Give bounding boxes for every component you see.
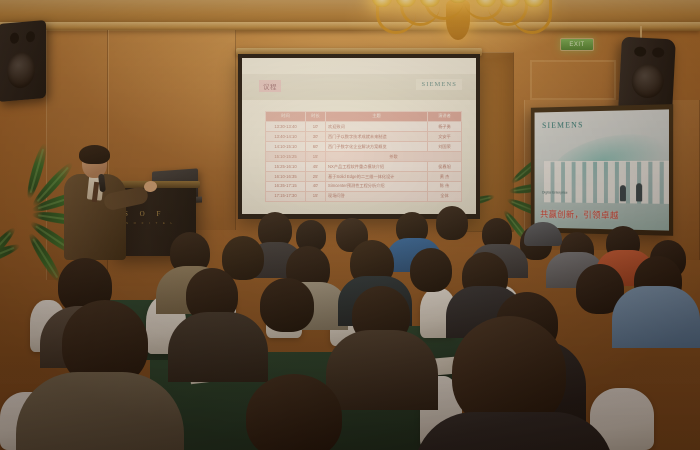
- agenda-cell-topic: 西门子数字化企业解决方案概览: [326, 142, 428, 152]
- speaker-cone: [631, 63, 665, 99]
- banner-figure: [620, 185, 626, 201]
- agenda-body: 13:30-13:40 10' 欢迎致词 杨子勇 13:40-14:10 30'…: [266, 122, 462, 202]
- audience-shoulders: [612, 286, 700, 348]
- siemens-logo-banner: SIEMENS: [542, 120, 584, 130]
- agenda-header-topic: 主题: [326, 112, 428, 122]
- agenda-row: 13:40-14:10 30' 西门子以数字技术成就未来制造 文安平: [266, 132, 462, 142]
- agenda-cell-duration: 45': [306, 162, 326, 172]
- agenda-row: 14:10-15:10 60' 西门子数字化企业解决方案概览 刘国荣: [266, 142, 462, 152]
- agenda-cell-topic: 现场问答: [326, 192, 428, 202]
- speaker-cone: [7, 51, 35, 89]
- audience-member: [260, 278, 314, 332]
- banner-subtext: Digital Enterprise: [542, 191, 567, 195]
- wall-speaker-right: [618, 37, 676, 114]
- banner-building-graphic: [544, 161, 669, 204]
- agenda-header-speaker: 演讲者: [428, 112, 462, 122]
- agenda-cell-time: 17:15-17:30: [266, 192, 306, 202]
- agenda-cell-duration: 25': [306, 172, 326, 182]
- presenter: [62, 148, 136, 260]
- agenda-row: 16:10-16:35 25' 基于Solid Edge的二三维一体化设计 黄 …: [266, 172, 462, 182]
- slide-title: 议程: [259, 80, 281, 92]
- agenda-cell-speaker: 文安平: [428, 132, 462, 142]
- projection-screen: 议程 SIEMENS 时间 时长 主题 演讲者 13:30-13:40 10' …: [238, 54, 480, 219]
- exit-sign-label: EXIT: [569, 42, 584, 48]
- agenda-cell-speaker: 刘国荣: [428, 142, 462, 152]
- audience-shoulders: [326, 330, 438, 410]
- banner-figure: [636, 183, 642, 201]
- speaker-port: [26, 31, 35, 43]
- agenda-row-break: 15:10-15:25 15' 茶歇: [266, 152, 462, 162]
- agenda-cell-speaker: 陈 伟: [428, 182, 462, 192]
- agenda-cell-duration: 30': [306, 132, 326, 142]
- wall-frame-molding: [530, 60, 616, 100]
- agenda-cell-time: 14:10-15:10: [266, 142, 306, 152]
- chandelier: [372, 0, 544, 48]
- agenda-cell-speaker: 杨子勇: [428, 122, 462, 132]
- agenda-cell-speaker: 黄 杰: [428, 172, 462, 182]
- agenda-cell-speaker: 侯春旭: [428, 162, 462, 172]
- agenda-cell-topic: 茶歇: [326, 152, 462, 162]
- agenda-cell-duration: 15': [306, 192, 326, 202]
- agenda-header-time: 时间: [266, 112, 306, 122]
- audience-member-foreground: [246, 374, 342, 450]
- banner-headline: 共赢创新，引领卓越: [540, 208, 669, 222]
- agenda-cell-time: 13:40-14:10: [266, 132, 306, 142]
- agenda-cell-duration: 10': [306, 122, 326, 132]
- agenda-cell-speaker: 全体: [428, 192, 462, 202]
- agenda-cell-time: 15:10-15:25: [266, 152, 306, 162]
- audience-member: [436, 206, 468, 240]
- agenda-cell-time: 16:10-16:35: [266, 172, 306, 182]
- agenda-cell-topic: 欢迎致词: [326, 122, 428, 132]
- agenda-row: 15:25-16:10 45' NX产品工程软件重点模块介绍 侯春旭: [266, 162, 462, 172]
- audience-shoulders-foreground: [16, 372, 184, 450]
- agenda-row: 17:15-17:30 15' 现场问答 全体: [266, 192, 462, 202]
- agenda-cell-duration: 60': [306, 142, 326, 152]
- agenda-cell-topic: Simcenter预测性工程分析介绍: [326, 182, 428, 192]
- conference-room-photo: EXIT 议程 SIEMENS 时间 时长: [0, 0, 700, 450]
- agenda-row: 16:35-17:15 40' Simcenter预测性工程分析介绍 陈 伟: [266, 182, 462, 192]
- agenda-cell-topic: NX产品工程软件重点模块介绍: [326, 162, 428, 172]
- audience-member: [410, 248, 452, 292]
- speaker-port: [652, 47, 665, 58]
- agenda-header-row: 时间 时长 主题 演讲者: [266, 112, 462, 122]
- agenda-row: 13:30-13:40 10' 欢迎致词 杨子勇: [266, 122, 462, 132]
- agenda-cell-time: 16:35-17:15: [266, 182, 306, 192]
- agenda-cell-time: 13:30-13:40: [266, 122, 306, 132]
- agenda-cell-topic: 西门子以数字技术成就未来制造: [326, 132, 428, 142]
- agenda-table: 时间 时长 主题 演讲者 13:30-13:40 10' 欢迎致词 杨子勇 13…: [265, 111, 462, 202]
- exit-sign: EXIT: [560, 38, 594, 51]
- agenda-cell-duration: 15': [306, 152, 326, 162]
- wall-speaker-left: [0, 20, 46, 102]
- speaker-port: [10, 32, 19, 44]
- siemens-logo-slide: SIEMENS: [416, 79, 462, 90]
- speaker-port: [634, 46, 647, 57]
- banner-artwork: SIEMENS Digital Enterprise 共赢创新，引领卓越: [535, 109, 669, 230]
- agenda-cell-duration: 40': [306, 182, 326, 192]
- agenda-header-duration: 时长: [306, 112, 326, 122]
- slide-surface: 议程 SIEMENS 时间 时长 主题 演讲者 13:30-13:40 10' …: [242, 58, 476, 214]
- presenter-hair: [79, 145, 110, 164]
- agenda-cell-topic: 基于Solid Edge的二三维一体化设计: [326, 172, 428, 182]
- siemens-rollup-banner: SIEMENS Digital Enterprise 共赢创新，引领卓越: [531, 104, 673, 236]
- audience-shoulders: [168, 312, 268, 382]
- agenda-cell-time: 15:25-16:10: [266, 162, 306, 172]
